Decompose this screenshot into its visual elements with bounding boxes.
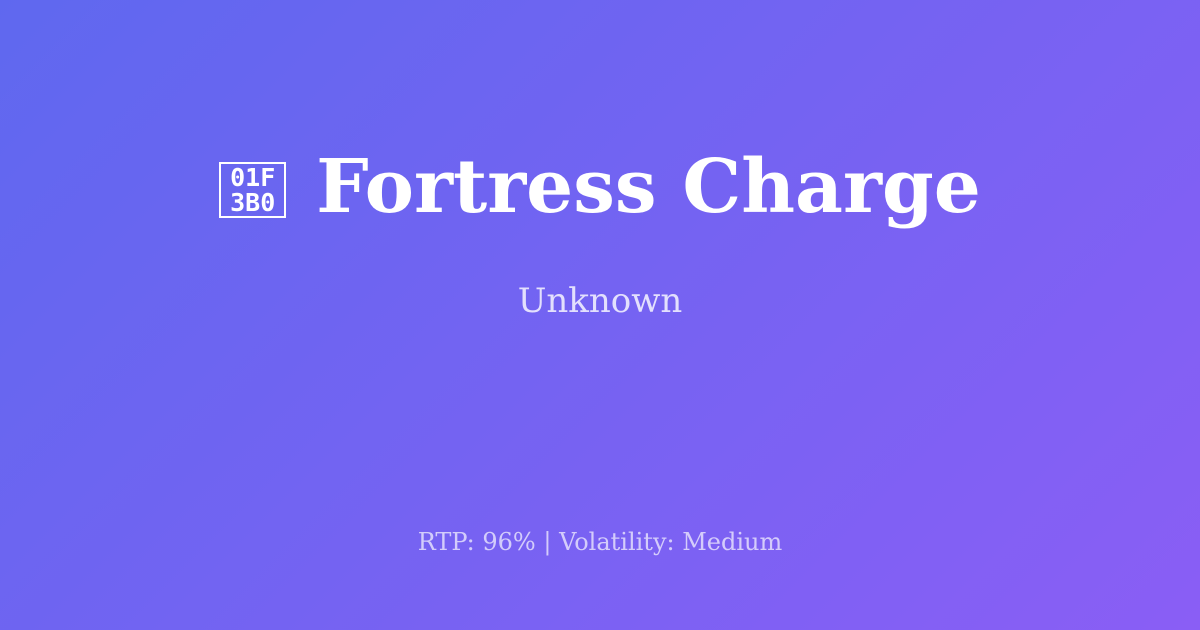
game-preview-card: 01F 3B0 Fortress Charge Unknown RTP: 96%…	[0, 0, 1200, 630]
slot-machine-icon-codepoint-low: 3B0	[230, 190, 275, 215]
title-row: 01F 3B0 Fortress Charge	[60, 149, 1140, 227]
game-provider-subtitle: Unknown	[518, 283, 683, 320]
hero-block: 01F 3B0 Fortress Charge Unknown	[0, 0, 1200, 470]
game-title: Fortress Charge	[316, 149, 981, 227]
slot-machine-icon: 01F 3B0	[219, 162, 286, 218]
slot-machine-icon-codepoint-high: 01F	[230, 165, 275, 190]
game-meta-line: RTP: 96% | Volatility: Medium	[0, 528, 1200, 556]
